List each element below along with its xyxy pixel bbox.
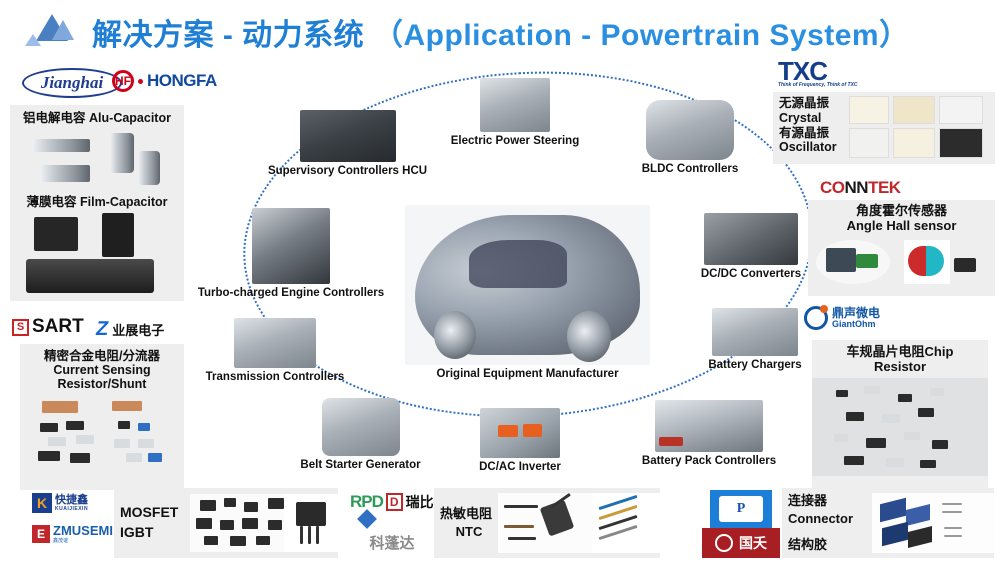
panel-ntc-thermistor: 热敏电阻 NTC — [434, 488, 660, 558]
label-oscillator-en: Oscillator — [779, 140, 847, 155]
diagram-item-label: Supervisory Controllers HCU — [255, 165, 440, 177]
hongfa-text: HONGFA — [147, 71, 217, 91]
kuaijiexin-en: KUAIJIEXIN — [55, 506, 88, 512]
giantohm-mark — [804, 306, 828, 330]
zmusemi-en: 鑫茂谊 — [53, 537, 113, 544]
transmission-ecu-image — [234, 318, 316, 368]
giantohm-en: GiantOhm — [832, 320, 880, 329]
kelengda-logo: 科蓬达 — [352, 532, 432, 553]
diagram-item-battery-pack-controllers: Battery Pack Controllers — [625, 400, 793, 467]
kuaijiexin-mark: K — [32, 493, 52, 513]
diagram-item-label: Electric Power Steering — [440, 135, 590, 147]
steering-column-image — [480, 78, 550, 132]
conntek-logo: CONNTEK — [820, 178, 901, 198]
film-capacitor-images — [10, 213, 184, 301]
panel-caption-shunt-en1: Current Sensing — [20, 363, 184, 377]
ntc-sensor-images — [498, 493, 592, 553]
car-cutaway-image — [405, 205, 650, 365]
panel-angle-hall-sensor: 角度霍尔传感器 Angle Hall sensor — [808, 200, 995, 296]
zmusemi-mark: E — [32, 525, 50, 543]
battery-charger-image — [712, 308, 798, 356]
panel-caption-chip-line1: 车规晶片电阻Chip — [812, 340, 988, 360]
hall-sensor-images — [808, 236, 995, 288]
title-text: 解决方案 - 动力系统 （Application - Powertrain Sy… — [92, 10, 910, 54]
panel-caption-alu-capacitor: 铝电解电容 Alu-Capacitor — [10, 105, 184, 125]
diagram-item-label: DC/DC Converters — [690, 268, 812, 280]
diagram-item-supervisory-controllers-hcu: Supervisory Controllers HCU — [255, 110, 440, 177]
diagram-item-label: DC/AC Inverter — [466, 461, 574, 473]
panel-mosfet-igbt: MOSFET IGBT — [114, 488, 338, 558]
pengxu-logo: P — [710, 490, 772, 528]
mosfet-package-images — [190, 494, 284, 552]
label-ntc-en: NTC — [440, 523, 498, 541]
shunt-resistor-images — [20, 395, 184, 475]
title-cn: 解决方案 - 动力系统 — [92, 19, 364, 52]
panel-capacitor: 铝电解电容 Alu-Capacitor 薄膜电容 Film-Capacitor — [10, 105, 184, 301]
title-en: （Application - Powertrain System） — [373, 19, 910, 52]
conntek-text-2: NN — [845, 178, 869, 198]
diagram-item-label: BLDC Controllers — [625, 163, 755, 175]
connector-labels: 连接器 Connector 结构胶 — [782, 492, 872, 554]
zmusemi-logo: E ZMUSEMI 鑫茂谊 — [32, 524, 113, 544]
pengxu-text: P — [719, 496, 763, 522]
crystal-product-images — [847, 92, 995, 164]
zmusemi-cn: ZMUSEMI — [53, 524, 113, 537]
yezhan-text: 业展电子 — [112, 320, 164, 339]
label-oscillator-cn: 有源晶振 — [779, 126, 847, 141]
chip-resistor-images — [812, 378, 988, 476]
hongfa-dot — [138, 79, 143, 84]
rpd-logo: RPD D 瑞比德 — [350, 492, 448, 512]
bldc-motor-image — [646, 100, 734, 160]
slide-canvas: 解决方案 - 动力系统 （Application - Powertrain Sy… — [0, 0, 1000, 562]
guotian-logo: 国夭 — [702, 528, 780, 558]
page-title: 解决方案 - 动力系统 （Application - Powertrain Sy… — [0, 8, 1000, 56]
label-connector-en: Connector — [788, 510, 872, 528]
panel-caption-chip-line2: Resistor — [812, 360, 988, 375]
sart-logo: S SART — [12, 316, 84, 338]
panel-caption-shunt-en2: Resistor/Shunt — [20, 377, 184, 391]
giantohm-logo: 鼎声微电 GiantOhm — [804, 306, 880, 330]
mosfet-igbt-labels: MOSFET IGBT — [114, 503, 190, 542]
battery-pack-image — [655, 400, 763, 452]
alu-capacitor-images — [10, 129, 184, 195]
diagram-item-oem: Original Equipment Manufacturer — [405, 205, 650, 380]
inverter-image — [480, 408, 560, 458]
txc-text: TXC — [778, 60, 827, 83]
kelengda-cn: 科蓬达 — [369, 535, 414, 552]
diagram-item-dcdc-converters: DC/DC Converters — [690, 213, 812, 280]
giantohm-cn: 鼎声微电 — [832, 307, 880, 320]
label-adhesive-cn: 结构胶 — [788, 536, 872, 554]
ntc-labels: 热敏电阻 NTC — [434, 505, 498, 541]
connector-images — [872, 493, 994, 553]
diagram-item-label: Original Equipment Manufacturer — [405, 368, 650, 380]
panel-crystal-oscillator: 无源晶振 Crystal 有源晶振 Oscillator — [773, 92, 995, 164]
panel-caption-film-capacitor: 薄膜电容 Film-Capacitor — [10, 195, 184, 209]
guotian-text: 国夭 — [739, 533, 767, 553]
sart-text: SART — [32, 316, 84, 338]
txc-tagline: Think of Frequency, Think of TXC — [778, 83, 858, 88]
diagram-item-label: Battery Pack Controllers — [625, 455, 793, 467]
diagram-item-label: Belt Starter Generator — [293, 459, 428, 471]
guotian-circle-icon — [715, 534, 733, 552]
label-ntc-cn: 热敏电阻 — [440, 505, 498, 523]
ntc-wire-images — [592, 493, 660, 553]
conntek-text-3: TEK — [868, 178, 901, 198]
conntek-text-1: CO — [820, 178, 845, 198]
engine-image — [252, 208, 330, 284]
panel-caption-shunt-cn: 精密合金电阻/分流器 — [20, 344, 184, 363]
diagram-item-label: Battery Chargers — [700, 359, 810, 371]
bridge-rectifier-image — [284, 494, 338, 552]
ecu-module-image — [300, 110, 396, 162]
starter-generator-image — [322, 398, 400, 456]
label-mosfet: MOSFET — [120, 503, 190, 523]
kuaijiexin-logo: K 快捷鑫 KUAIJIEXIN — [32, 493, 88, 513]
crystal-oscillator-labels: 无源晶振 Crystal 有源晶振 Oscillator — [773, 92, 847, 164]
diagram-item-battery-chargers: Battery Chargers — [700, 308, 810, 371]
panel-resistor-shunt: 精密合金电阻/分流器 Current Sensing Resistor/Shun… — [20, 344, 184, 490]
panel-connector-adhesive: 连接器 Connector 结构胶 — [782, 488, 994, 558]
kuaijiexin-cn: 快捷鑫 — [55, 495, 88, 506]
label-igbt: IGBT — [120, 523, 190, 543]
diagram-item-label: Transmission Controllers — [199, 371, 351, 383]
diagram-item-belt-starter-generator: Belt Starter Generator — [293, 398, 428, 471]
yezhan-logo: Z 业展电子 — [96, 318, 164, 341]
label-crystal-en: Crystal — [779, 111, 847, 126]
diagram-item-label: Turbo-charged Engine Controllers — [186, 287, 396, 299]
txc-logo: TXC Think of Frequency, Think of TXC — [778, 60, 858, 88]
hongfa-mark: HF — [112, 70, 134, 92]
diagram-item-dcac-inverter: DC/AC Inverter — [466, 408, 574, 473]
panel-chip-resistor: 车规晶片电阻Chip Resistor — [812, 340, 988, 488]
panel-caption-hall-cn: 角度霍尔传感器 — [808, 200, 995, 219]
jianghai-logo: Jianghai — [22, 68, 122, 98]
kelengda-diamond-icon — [357, 509, 377, 529]
panel-caption-hall-en: Angle Hall sensor — [808, 219, 995, 234]
diagram-item-bldc-controllers: BLDC Controllers — [625, 100, 755, 175]
diagram-item-turbo-charged-engine-controllers: Turbo-charged Engine Controllers — [186, 208, 396, 299]
diagram-item-transmission-controllers: Transmission Controllers — [199, 318, 351, 383]
hongfa-logo: HF HONGFA — [112, 70, 217, 92]
sart-mark: S — [12, 319, 29, 336]
dcdc-converter-image — [704, 213, 798, 265]
label-connector-cn: 连接器 — [788, 492, 872, 510]
rpd-box: D — [386, 493, 403, 511]
mountain-triangles-logo — [22, 12, 78, 52]
diagram-item-electric-power-steering: Electric Power Steering — [440, 78, 590, 147]
yezhan-mark: Z — [94, 318, 110, 341]
label-crystal-cn: 无源晶振 — [779, 96, 847, 111]
